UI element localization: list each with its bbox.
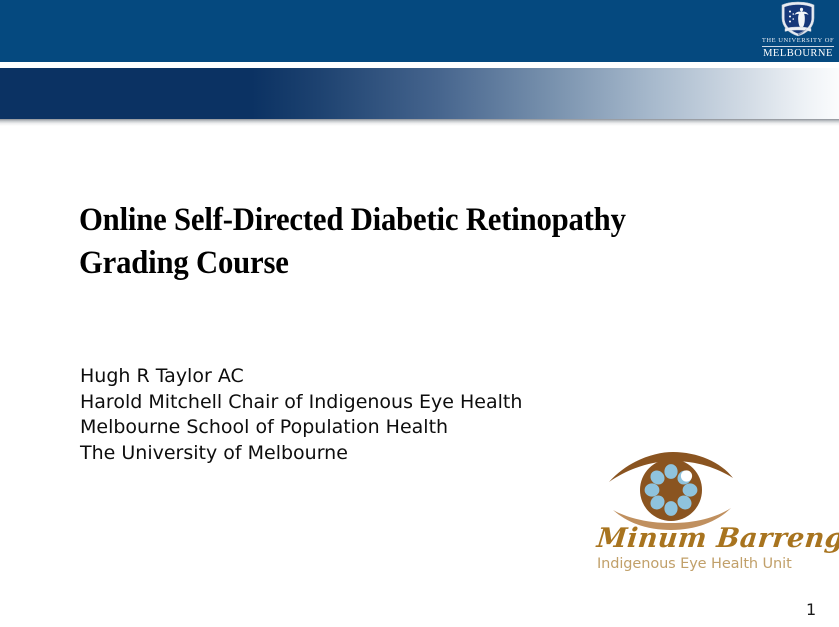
author-role: Harold Mitchell Chair of Indigenous Eye …	[80, 390, 640, 416]
presentation-slide: THE UNIVERSITY OF MELBOURNE Online Self-…	[0, 0, 839, 627]
indigenous-eye-health-unit-subtitle: Indigenous Eye Health Unit	[597, 555, 793, 573]
university-crest-icon	[779, 1, 817, 37]
university-of-melbourne-logo: THE UNIVERSITY OF MELBOURNE	[760, 0, 836, 62]
header-band-shadow	[0, 119, 839, 126]
eye-with-flower-iris-icon	[605, 452, 737, 530]
header-gradient-band	[0, 68, 839, 119]
minum-barreng-script-text: Minum Barreng	[595, 524, 794, 554]
page-number: 1	[806, 600, 834, 619]
author-name: Hugh R Taylor AC	[80, 364, 640, 390]
minum-barreng-wordmark: Minum Barreng Indigenous Eye Health Unit	[597, 524, 793, 577]
author-institution: The University of Melbourne	[80, 441, 640, 467]
author-affiliation-block: Hugh R Taylor AC Harold Mitchell Chair o…	[80, 364, 640, 466]
university-wordmark-line-2: MELBOURNE	[762, 49, 834, 60]
slide-title: Online Self-Directed Diabetic Retinopath…	[79, 199, 739, 285]
university-wordmark-line-1: THE UNIVERSITY OF	[762, 38, 834, 47]
author-school: Melbourne School of Population Health	[80, 415, 640, 441]
header-top-bar	[0, 0, 839, 62]
minum-barreng-logo: Minum Barreng Indigenous Eye Health Unit	[597, 452, 793, 577]
university-wordmark: THE UNIVERSITY OF MELBOURNE	[762, 38, 834, 59]
